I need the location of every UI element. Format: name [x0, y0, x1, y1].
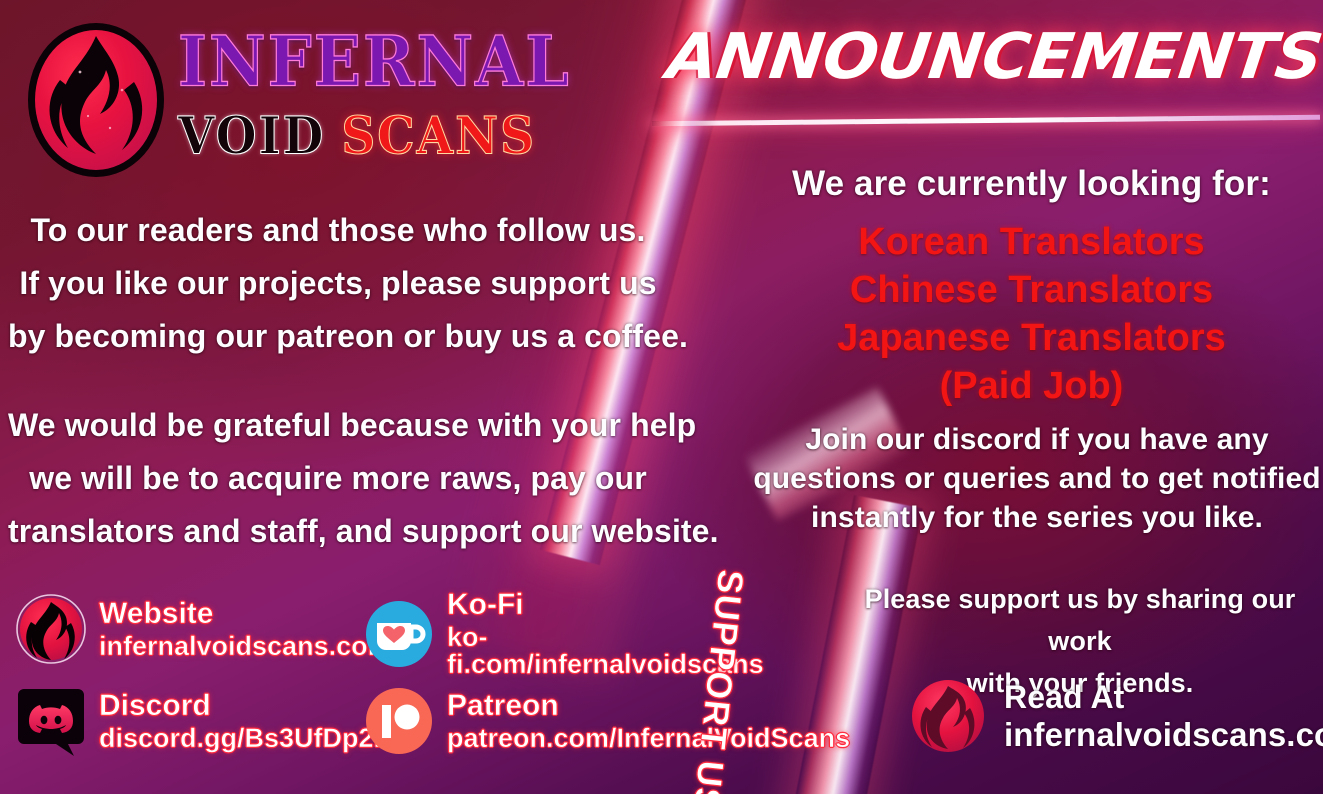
social-title: Discord: [99, 691, 402, 721]
infernal-flame-circle-logo: [26, 20, 166, 180]
copy-line: To our readers and those who follow us.: [8, 204, 668, 257]
social-title: Website: [99, 599, 392, 629]
brand-word-scans: SCANS: [341, 106, 536, 167]
share-note-line: Please support us by sharing our work: [840, 578, 1320, 662]
social-link-website[interactable]: Website infernalvoidscans.com: [16, 594, 392, 664]
read-at-title: Read At: [1004, 681, 1323, 713]
left-support-copy: To our readers and those who follow us. …: [8, 204, 668, 558]
role-item: Korean Translators: [740, 218, 1323, 266]
website-text: Website infernalvoidscans.com: [99, 599, 392, 660]
role-item: Japanese Translators: [740, 314, 1323, 362]
discord-note-line: instantly for the series you like.: [752, 498, 1322, 537]
role-item: Chinese Translators: [740, 266, 1323, 314]
brand-line-infernal: INFERNAL: [178, 26, 608, 98]
discord-note-line: Join our discord if you have any: [752, 420, 1322, 459]
read-at-text: Read At infernalvoidscans.com: [1004, 681, 1323, 751]
infernal-flame-circle-icon: [16, 594, 86, 664]
discord-icon: [16, 686, 86, 756]
announcement-page: INFERNAL VOID SCANS To our readers and t…: [0, 0, 1323, 794]
discord-text: Discord discord.gg/Bs3UfDp2Kf: [99, 691, 402, 752]
copy-line: translators and staff, and support our w…: [8, 505, 668, 558]
copy-line: by becoming our patreon or buy us a coff…: [8, 310, 668, 363]
infernal-flame-circle-icon: [908, 676, 988, 756]
read-at-block[interactable]: Read At infernalvoidscans.com: [908, 676, 1323, 756]
brand-word-void: VOID: [178, 106, 325, 167]
discord-note: Join our discord if you have any questio…: [752, 420, 1322, 537]
announcements-title: ANNOUNCEMENTS: [658, 22, 1323, 92]
role-item: (Paid Job): [740, 362, 1323, 410]
roles-list: Korean Translators Chinese Translators J…: [740, 218, 1323, 410]
brand-line-void-scans: VOID SCANS: [178, 106, 608, 167]
patreon-icon: [364, 686, 434, 756]
copy-line: We would be grateful because with your h…: [8, 399, 668, 452]
read-at-url: infernalvoidscans.com: [1004, 718, 1323, 751]
paragraph-spacer: [8, 363, 668, 399]
brand-wordmark: INFERNAL VOID SCANS: [178, 26, 608, 166]
social-url: patreon.com/InfernalVoidScans: [447, 725, 850, 752]
social-link-patreon[interactable]: Patreon patreon.com/InfernalVoidScans: [364, 686, 850, 756]
social-url: discord.gg/Bs3UfDp2Kf: [99, 725, 402, 752]
copy-line: we will be to acquire more raws, pay our: [8, 452, 668, 505]
copy-line: If you like our projects, please support…: [8, 257, 668, 310]
patreon-text: Patreon patreon.com/InfernalVoidScans: [447, 691, 850, 752]
kofi-cup-icon: [364, 599, 434, 669]
looking-for-heading: We are currently looking for:: [740, 162, 1323, 206]
social-url: infernalvoidscans.com: [99, 633, 392, 660]
social-title: Patreon: [447, 691, 850, 721]
discord-note-line: questions or queries and to get notified: [752, 459, 1322, 498]
title-underline-glow: [652, 115, 1320, 126]
social-link-discord[interactable]: Discord discord.gg/Bs3UfDp2Kf: [16, 686, 402, 756]
